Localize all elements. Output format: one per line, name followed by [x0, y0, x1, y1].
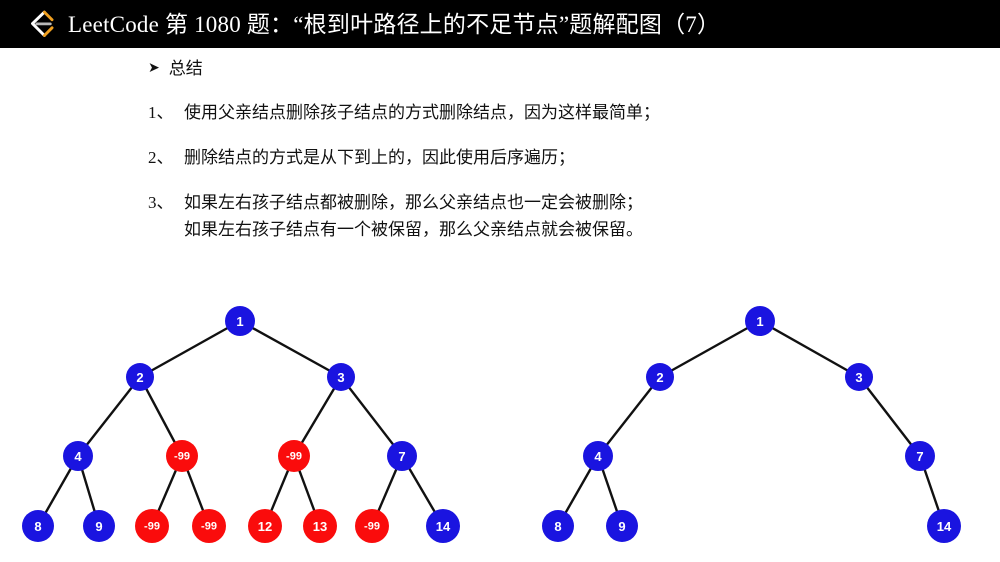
original-tree-node: -99: [135, 509, 169, 543]
pruned-tree-node: 4: [583, 441, 613, 471]
pruned-tree-edge: [760, 321, 859, 377]
original-tree-node-label: 2: [136, 370, 143, 385]
original-tree-node-label: 13: [313, 519, 327, 534]
summary-item-1-text: 使用父亲结点删除孩子结点的方式删除结点，因为这样最简单；: [184, 102, 848, 125]
pruned-tree-node: 7: [905, 441, 935, 471]
original-tree-edge: [240, 321, 341, 377]
pruned-tree-node: 1: [745, 306, 775, 336]
summary-item-3: 3、 如果左右孩子结点都被删除，那么父亲结点也一定会被删除； 如果左右孩子结点有…: [148, 192, 848, 242]
original-tree-node: -99: [278, 440, 310, 472]
pruned-tree-node: 2: [646, 363, 674, 391]
original-tree-node: 12: [248, 509, 282, 543]
original-tree-node: 1: [225, 306, 255, 336]
pruned-tree-node-label: 4: [594, 449, 602, 464]
original-tree-node-label: 3: [337, 370, 344, 385]
original-tree-node: 4: [63, 441, 93, 471]
pruned-tree-edge: [598, 377, 660, 456]
summary-heading-label: 总结: [169, 58, 203, 81]
summary-item-2-text: 删除结点的方式是从下到上的，因此使用后序遍历；: [184, 147, 848, 170]
original-tree-node-label: -99: [174, 451, 190, 463]
original-tree-node: 13: [303, 509, 337, 543]
summary-item-3-line-1: 如果左右孩子结点都被删除，那么父亲结点也一定会被删除；: [184, 193, 643, 212]
original-tree-node-label: -99: [364, 521, 380, 533]
summary-item-1-index: 1、: [148, 102, 184, 125]
summary-item-2: 2、 删除结点的方式是从下到上的，因此使用后序遍历；: [148, 147, 848, 170]
original-tree-node-label: 1: [236, 314, 243, 329]
original-tree-node-label: -99: [201, 521, 217, 533]
original-tree-node-label: 9: [95, 519, 102, 534]
pruned-tree-node-label: 1: [756, 314, 763, 329]
summary-item-2-index: 2、: [148, 147, 184, 170]
pruned-tree-edges: [558, 321, 944, 526]
original-tree-node-label: 7: [398, 449, 405, 464]
pruned-tree-node: 3: [845, 363, 873, 391]
pruned-tree-edge: [660, 321, 760, 377]
original-tree-node: 14: [426, 509, 460, 543]
summary-item-1: 1、 使用父亲结点删除孩子结点的方式删除结点，因为这样最简单；: [148, 102, 848, 125]
original-tree-edges: [38, 321, 443, 526]
pruned-tree-node-label: 2: [656, 370, 663, 385]
pruned-tree-node-label: 14: [937, 519, 952, 534]
original-tree-node: 8: [22, 510, 54, 542]
summary-item-3-line-2: 如果左右孩子结点有一个被保留，那么父亲结点就会被保留。: [184, 219, 848, 242]
summary-text-block: ➤ 总结 1、 使用父亲结点删除孩子结点的方式删除结点，因为这样最简单； 2、 …: [148, 58, 848, 264]
leetcode-logo-icon: [24, 7, 58, 41]
page-title: LeetCode 第 1080 题：“根到叶路径上的不足节点”题解配图（7）: [68, 13, 720, 36]
pruned-tree-node-label: 7: [916, 449, 923, 464]
original-tree-node: 9: [83, 510, 115, 542]
original-tree-node: 2: [126, 363, 154, 391]
original-tree-node-label: -99: [286, 451, 302, 463]
original-tree-node-label: 8: [34, 519, 41, 534]
tree-diagram-svg: 1234-99-99789-99-991213-9914 123478914: [0, 290, 1000, 562]
original-tree-node: -99: [166, 440, 198, 472]
original-tree-nodes: 1234-99-99789-99-991213-9914: [22, 306, 460, 543]
original-tree-node-label: 14: [436, 519, 451, 534]
pruned-tree-node-label: 3: [855, 370, 862, 385]
header-bar: LeetCode 第 1080 题：“根到叶路径上的不足节点”题解配图（7）: [0, 0, 1000, 48]
original-tree-node: -99: [355, 509, 389, 543]
original-tree-node: -99: [192, 509, 226, 543]
arrow-bullet-icon: ➤: [148, 58, 160, 79]
pruned-tree-node-label: 9: [618, 519, 625, 534]
original-tree-edge: [140, 321, 240, 377]
pruned-tree-node: 8: [542, 510, 574, 542]
original-tree-node: 3: [327, 363, 355, 391]
original-tree-node-label: 4: [74, 449, 82, 464]
pruned-tree-node: 9: [606, 510, 638, 542]
original-tree-node: 7: [387, 441, 417, 471]
original-tree-node-label: -99: [144, 521, 160, 533]
original-tree-node-label: 12: [258, 519, 272, 534]
summary-item-3-text: 如果左右孩子结点都被删除，那么父亲结点也一定会被删除； 如果左右孩子结点有一个被…: [184, 192, 848, 242]
pruned-tree-node-label: 8: [554, 519, 561, 534]
original-tree-edge: [78, 377, 140, 456]
pruned-tree-nodes: 123478914: [542, 306, 961, 543]
summary-item-3-index: 3、: [148, 192, 184, 215]
summary-heading: ➤ 总结: [148, 58, 848, 81]
pruned-tree-node: 14: [927, 509, 961, 543]
tree-diagram-area: 1234-99-99789-99-991213-9914 123478914: [0, 290, 1000, 562]
